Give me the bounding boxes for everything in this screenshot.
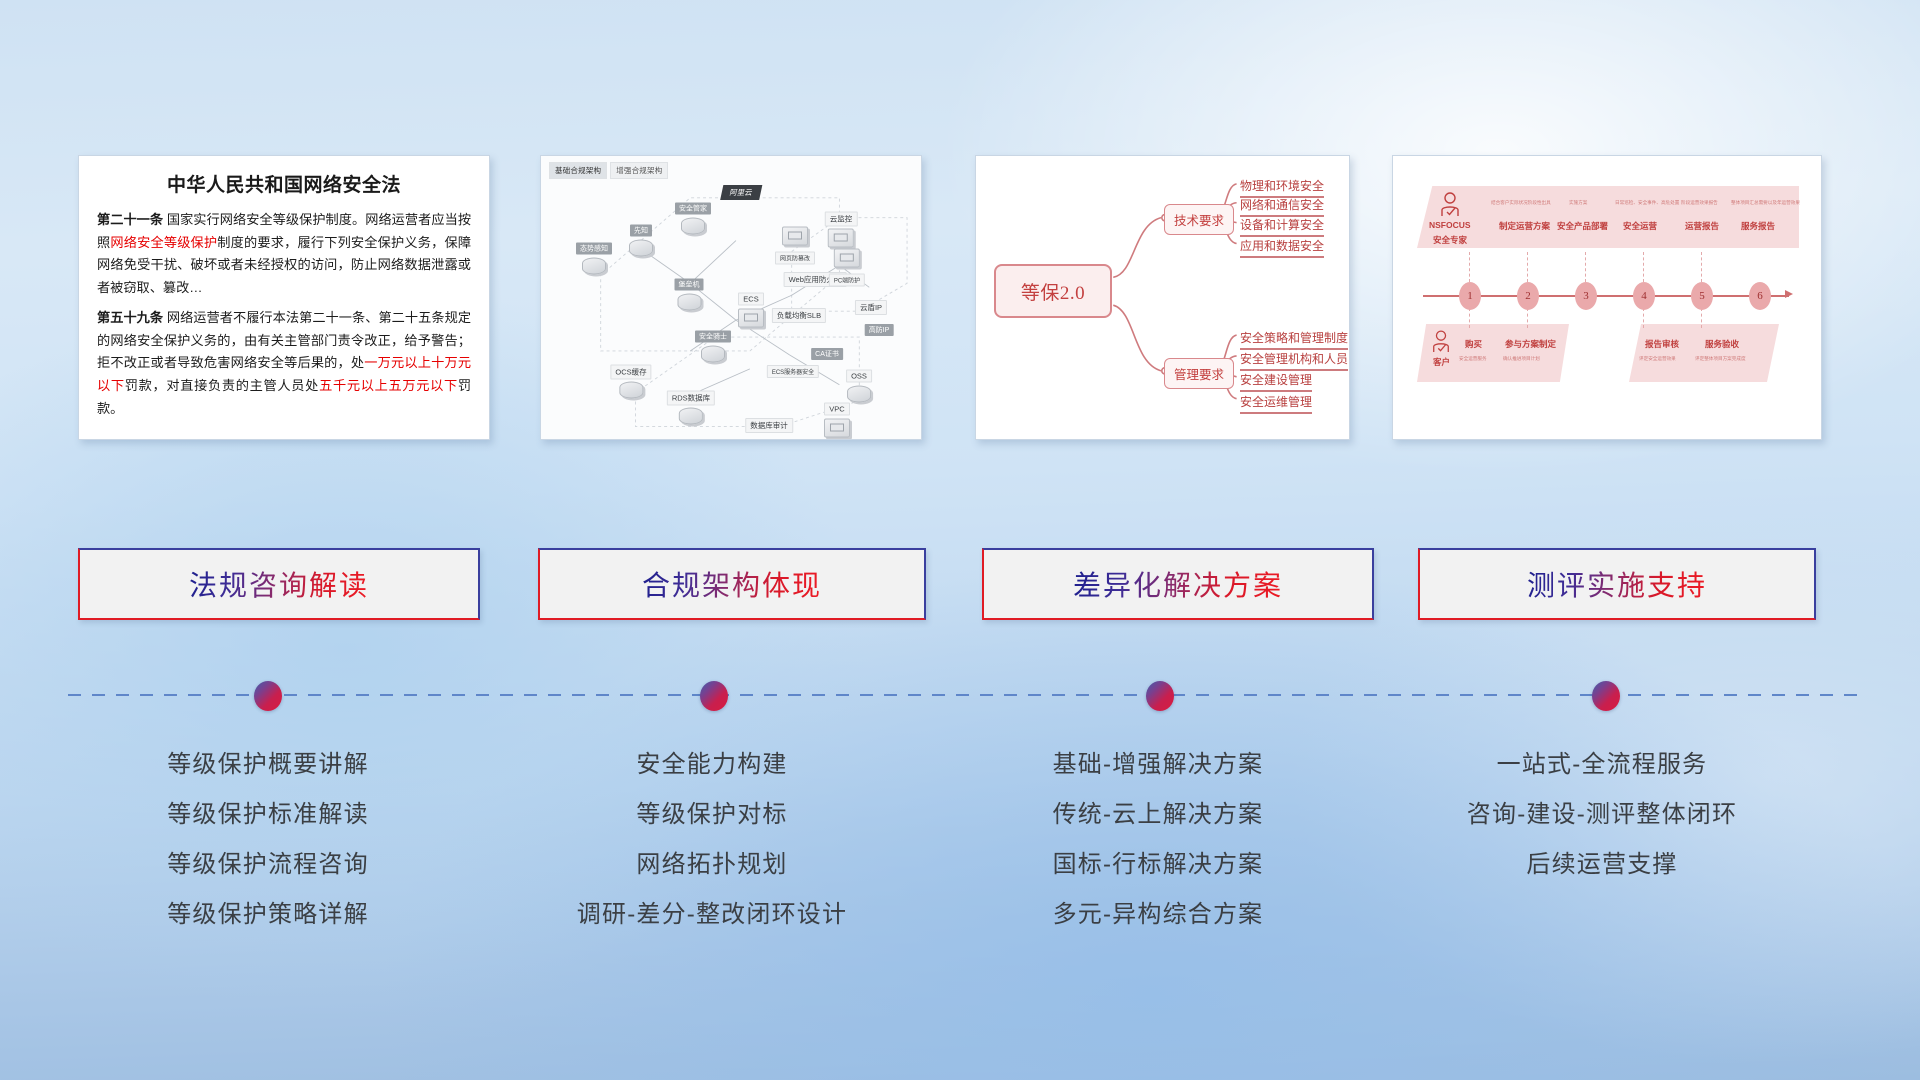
bottom-step-title: 参与方案制定: [1505, 338, 1556, 350]
top-step-sub: 阶段运营效果报告: [1681, 200, 1718, 206]
node-label: OSS: [846, 370, 872, 383]
axis-step-marker: 1: [1459, 282, 1481, 310]
slide-root: 中华人民共和国网络安全法 第二十一条 国家实行网络安全等级保护制度。网络运营者应…: [0, 0, 1920, 1080]
node-label: 安全骑士: [695, 331, 731, 343]
column-list-4: 一站式-全流程服务 咨询-建设-测评整体闭环 后续运营支撑: [1392, 740, 1812, 890]
mindmap-branch-management: 管理要求: [1164, 358, 1234, 389]
law-article-59: 第五十九条 网络运营者不履行本法第二十一条、第二十五条规定的网络安全保护义务的，…: [97, 307, 471, 421]
node-ecs: ECS: [738, 289, 764, 328]
column-title-label: 差异化解决方案: [1073, 564, 1283, 604]
axis-step-marker: 4: [1633, 282, 1655, 310]
column-title-box-3[interactable]: 差异化解决方案: [982, 548, 1374, 620]
node-cloud-monitor: 云监控: [825, 209, 858, 248]
law-title: 中华人民共和国网络安全法: [97, 170, 471, 197]
mindmap-leaf: 应用和数据安全: [1240, 237, 1324, 258]
column-title-box-2[interactable]: 合规架构体现: [538, 548, 926, 620]
node-label: 阿里云: [720, 185, 762, 200]
node-label: VPC: [824, 403, 849, 416]
top-step-title: 运营报告: [1685, 220, 1719, 232]
axis-step-marker: 3: [1575, 282, 1597, 310]
node-web-tamper-proof: 网页防篡改: [775, 227, 815, 266]
bottom-step-sub: 确认推进项目计划: [1503, 356, 1540, 362]
bottom-step-sub: 评定安全运营效果: [1639, 356, 1676, 362]
mindmap: 等保2.0 技术要求 物理和环境安全 网络和通信安全 设备和计算安全 应用和数据…: [976, 156, 1349, 439]
node-label: 先知: [630, 225, 652, 237]
mindmap-branch-technical: 技术要求: [1164, 204, 1234, 235]
list-item: 咨询-建设-测评整体闭环: [1392, 790, 1812, 840]
image-card-row: 中华人民共和国网络安全法 第二十一条 国家实行网络安全等级保护制度。网络运营者应…: [0, 0, 1920, 440]
law-article-59-highlight-2: 五千元以上五万元以下: [319, 378, 458, 393]
column-title-label: 测评实施支持: [1527, 564, 1707, 604]
node-label: RDS数据库: [667, 391, 715, 406]
node-db-audit: 数据库审计: [745, 415, 793, 433]
bottom-step-sub: 安全运营服务: [1459, 356, 1487, 362]
mindmap-leaf: 网络和通信安全: [1240, 196, 1324, 217]
list-item: 等级保护策略详解: [58, 890, 478, 940]
expert-role-label: 安全专家: [1433, 234, 1467, 246]
top-step-sub: 日常巡检、安全事件、高危处置: [1615, 200, 1679, 206]
list-item: 国标-行标解决方案: [948, 840, 1368, 890]
mindmap-leaf: 安全建设管理: [1240, 371, 1312, 392]
law-article-59-text-b: 罚款，对直接负责的主管人员处: [125, 378, 319, 393]
node-situational-awareness: 态势感知: [576, 238, 612, 275]
top-step-title: 制定运营方案: [1499, 220, 1550, 232]
axis-step-marker: 2: [1517, 282, 1539, 310]
axis-step-marker: 5: [1691, 282, 1713, 310]
bottom-step-sub: 评定整体项目方案完成度: [1695, 356, 1746, 362]
mindmap-leaf: 物理和环境安全: [1240, 177, 1324, 198]
list-item: 基础-增强解决方案: [948, 740, 1368, 790]
node-label: 高防IP: [865, 324, 894, 336]
card-mindmap-dengbao[interactable]: 等保2.0 技术要求 物理和环境安全 网络和通信安全 设备和计算安全 应用和数据…: [975, 155, 1350, 440]
customer-role-label: 客户: [1433, 356, 1450, 368]
architecture-diagram: 基础合规架构 增强合规架构: [541, 156, 921, 439]
customer-person-icon: [1431, 330, 1451, 354]
node-bastion-host: 堡垒机: [675, 274, 704, 311]
node-label: ECS服务器安全: [767, 365, 819, 378]
list-item: 安全能力构建: [502, 740, 922, 790]
node-ecs-server-security: ECS服务器安全: [767, 361, 819, 379]
column-title-label: 法规咨询解读: [189, 564, 369, 604]
node-cloud-shield-ip: 云盾IP: [855, 297, 887, 315]
node-pc-protection: PC端防护: [829, 249, 865, 288]
dashed-timeline: [68, 694, 1858, 696]
card-cloud-architecture[interactable]: 基础合规架构 增强合规架构: [540, 155, 922, 440]
node-rds-database: RDS数据库: [667, 388, 715, 425]
node-aliyun-banner: 阿里云: [722, 182, 761, 200]
list-item: 等级保护对标: [502, 790, 922, 840]
node-label: 安全管家: [675, 203, 711, 215]
column-title-label: 合规架构体现: [642, 564, 822, 604]
expert-person-icon: [1439, 192, 1461, 218]
law-article-21: 第二十一条 国家实行网络安全等级保护制度。网络运营者应当按照网络安全等级保护制度…: [97, 209, 471, 300]
law-article-21-highlight: 网络安全等级保护: [110, 235, 217, 250]
law-body: 中华人民共和国网络安全法 第二十一条 国家实行网络安全等级保护制度。网络运营者应…: [79, 156, 489, 430]
node-vpc: VPC: [824, 399, 850, 438]
law-article-59-label: 第五十九条: [97, 310, 163, 325]
node-ca-certificate: CA证书: [811, 343, 843, 361]
node-label: OCS缓存: [610, 365, 651, 380]
list-item: 传统-云上解决方案: [948, 790, 1368, 840]
mindmap-leaf: 安全策略和管理制度: [1240, 329, 1348, 350]
node-label: 云盾IP: [855, 300, 887, 315]
node-label: 云监控: [825, 212, 858, 227]
list-item: 多元-异构综合方案: [948, 890, 1368, 940]
bottom-step-title: 服务验收: [1705, 338, 1739, 350]
nsfocus-process: NSFOCUS 安全专家 客户 结合客户实际状况阶段性出具 制定运营方案 实施方…: [1393, 156, 1821, 439]
node-label: 负载均衡SLB: [772, 308, 826, 323]
list-item: 一站式-全流程服务: [1392, 740, 1812, 790]
node-xianzhi: 先知: [629, 220, 653, 257]
mindmap-root: 等保2.0: [994, 264, 1112, 318]
node-slb: 负载均衡SLB: [772, 305, 826, 323]
node-high-defense-ip: 高防IP: [865, 319, 894, 337]
bottom-step-title: 购买: [1465, 338, 1482, 350]
axis-step-marker: 6: [1749, 282, 1771, 310]
process-axis-arrow: [1785, 290, 1793, 298]
top-step-title: 服务报告: [1741, 220, 1775, 232]
timeline-dot-4: [1592, 681, 1620, 711]
list-item: 等级保护流程咨询: [58, 840, 478, 890]
expert-brand-label: NSFOCUS: [1429, 220, 1471, 230]
node-label: 数据库审计: [745, 418, 793, 433]
mindmap-leaf: 设备和计算安全: [1240, 216, 1324, 237]
node-label: ECS: [738, 293, 763, 306]
column-list-1: 等级保护概要讲解 等级保护标准解读 等级保护流程咨询 等级保护策略详解: [58, 740, 478, 940]
top-step-sub: 实施方案: [1569, 200, 1587, 206]
node-label: CA证书: [811, 348, 843, 360]
top-step-sub: 结合客户实际状况阶段性出具: [1491, 200, 1551, 206]
card-nsfocus-timeline[interactable]: NSFOCUS 安全专家 客户 结合客户实际状况阶段性出具 制定运营方案 实施方…: [1392, 155, 1822, 440]
node-label: 态势感知: [576, 243, 612, 255]
list-item: 网络拓扑规划: [502, 840, 922, 890]
column-title-box-4[interactable]: 测评实施支持: [1418, 548, 1816, 620]
list-item: 调研-差分-整改闭环设计: [502, 890, 922, 940]
law-article-21-label: 第二十一条: [97, 212, 163, 227]
node-oss: OSS: [846, 366, 872, 403]
list-item: 等级保护概要讲解: [58, 740, 478, 790]
list-item: 后续运营支撑: [1392, 840, 1812, 890]
bottom-step-title: 报告审核: [1645, 338, 1679, 350]
column-title-box-1[interactable]: 法规咨询解读: [78, 548, 480, 620]
column-list-3: 基础-增强解决方案 传统-云上解决方案 国标-行标解决方案 多元-异构综合方案: [948, 740, 1368, 940]
column-list-2: 安全能力构建 等级保护对标 网络拓扑规划 调研-差分-整改闭环设计: [502, 740, 922, 940]
nsfocus-bottom-band-right: [1629, 324, 1779, 382]
timeline-dot-3: [1146, 681, 1174, 711]
top-step-title: 安全运营: [1623, 220, 1657, 232]
node-label: 堡垒机: [675, 279, 704, 291]
top-step-title: 安全产品部署: [1557, 220, 1608, 232]
node-label: PC端防护: [829, 274, 865, 287]
node-ocs-cache: OCS缓存: [610, 362, 651, 399]
mindmap-leaf: 安全管理机构和人员: [1240, 350, 1348, 371]
list-item: 等级保护标准解读: [58, 790, 478, 840]
nsfocus-top-band: [1417, 186, 1799, 248]
mindmap-leaf: 安全运维管理: [1240, 393, 1312, 414]
node-security-butler: 安全管家: [675, 198, 711, 235]
timeline-dot-1: [254, 681, 282, 711]
node-security-knight: 安全骑士: [695, 326, 731, 363]
card-law-text[interactable]: 中华人民共和国网络安全法 第二十一条 国家实行网络安全等级保护制度。网络运营者应…: [78, 155, 490, 440]
node-label: 网页防篡改: [775, 252, 815, 265]
timeline-dot-2: [700, 681, 728, 711]
top-step-sub: 整体项目汇总需要以及年运营效果: [1731, 200, 1800, 206]
